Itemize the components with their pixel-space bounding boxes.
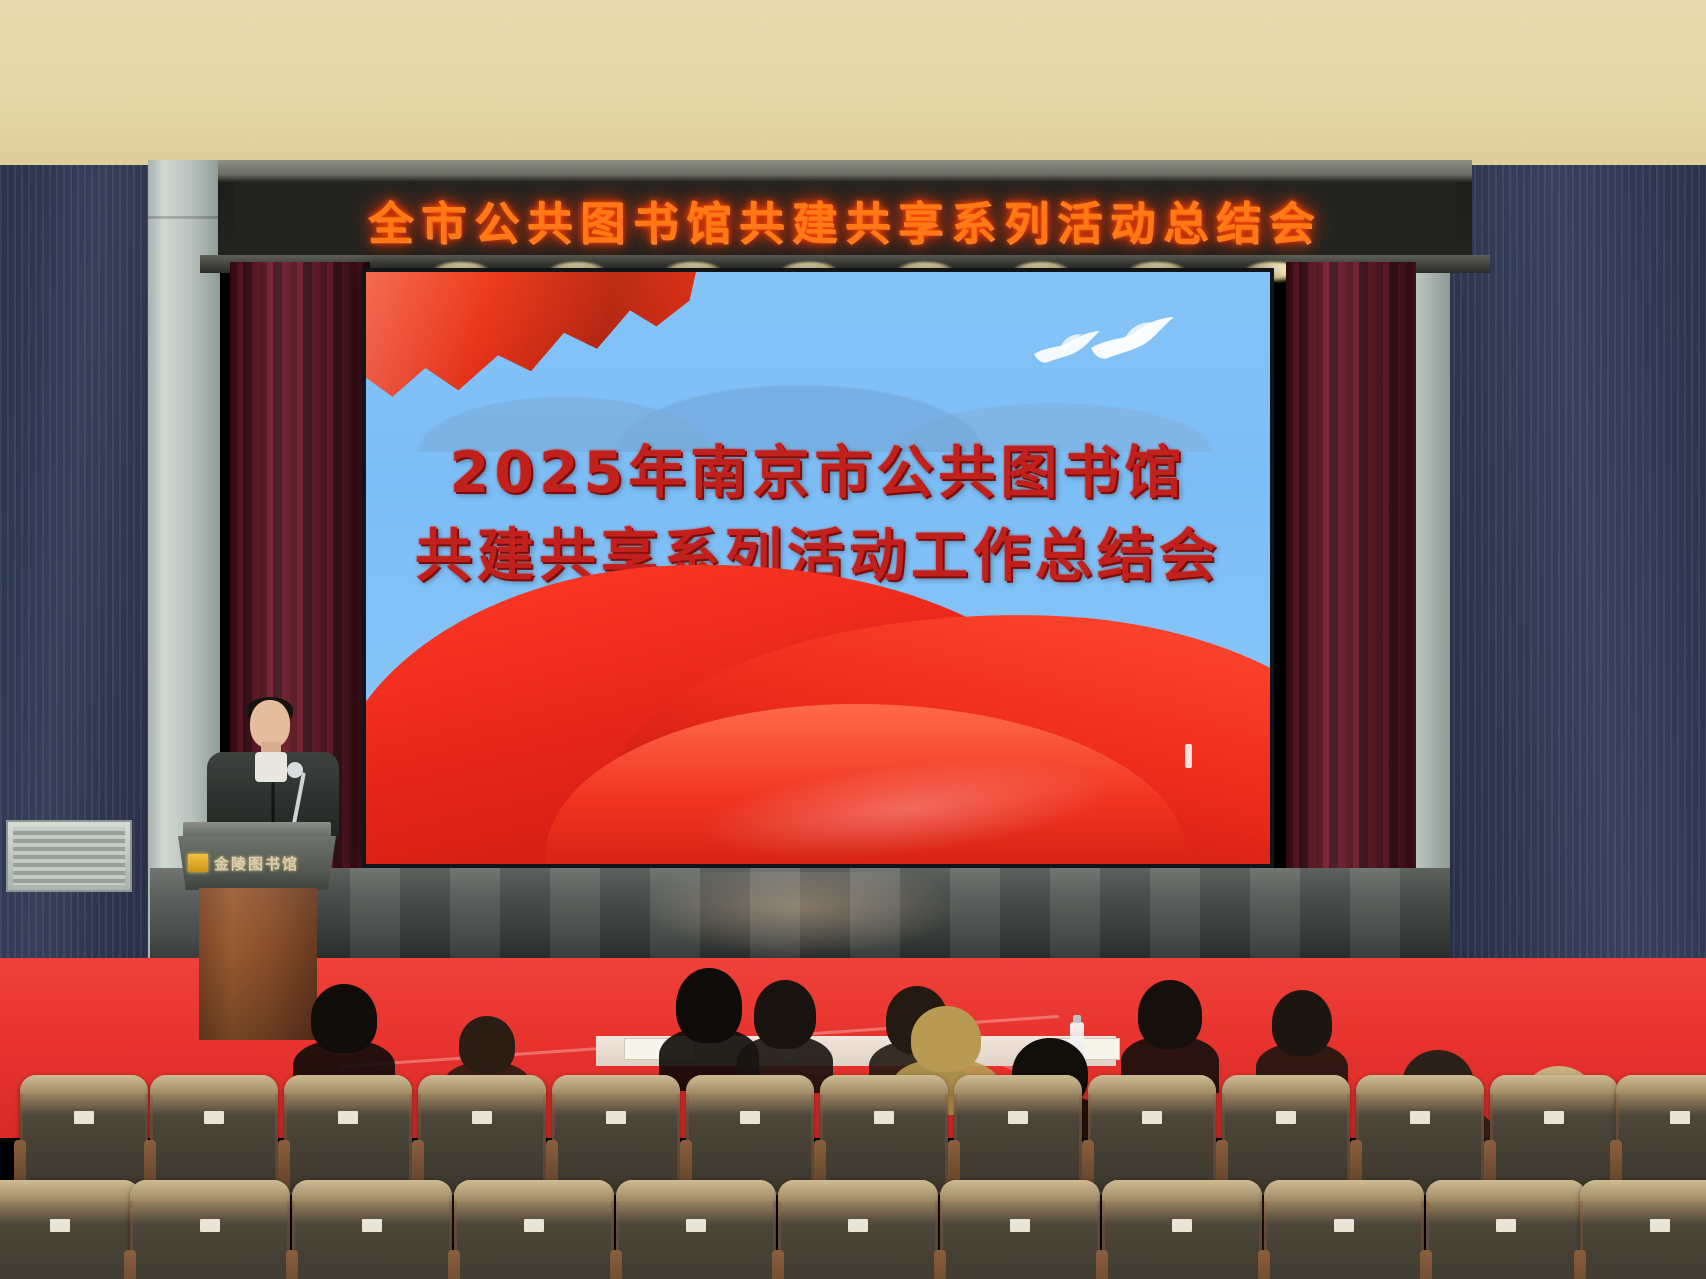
auditorium-seat[interactable]: [1102, 1180, 1262, 1279]
seat-number-plate: [472, 1111, 492, 1124]
seat-number-plate: [1008, 1111, 1028, 1124]
seat-armrest: [1420, 1250, 1432, 1279]
auditorium-seat[interactable]: [1490, 1075, 1618, 1195]
audience-person-8: [1128, 980, 1212, 1076]
auditorium-scene: 全市公共图书馆共建共享系列活动总结会: [0, 0, 1706, 1279]
auditorium-seat[interactable]: [686, 1075, 814, 1195]
auditorium-seat[interactable]: [1222, 1075, 1350, 1195]
speaker-head: [250, 700, 290, 748]
seat-number-plate: [1496, 1219, 1516, 1232]
seat-number-plate: [1544, 1111, 1564, 1124]
audience-person-4: [744, 980, 826, 1076]
seat-number-plate: [1172, 1219, 1192, 1232]
seat-number-plate: [204, 1111, 224, 1124]
auditorium-seat[interactable]: [0, 1180, 140, 1279]
library-emblem-icon: [188, 854, 208, 872]
auditorium-seat[interactable]: [552, 1075, 680, 1195]
seat-number-plate: [1276, 1111, 1296, 1124]
screen-light-artifact: [1185, 744, 1192, 768]
auditorium-seat[interactable]: [284, 1075, 412, 1195]
audience-person-9: [1262, 990, 1342, 1082]
seat-armrest: [448, 1250, 460, 1279]
auditorium-seat[interactable]: [1356, 1075, 1484, 1195]
seat-armrest: [1574, 1250, 1586, 1279]
person-head: [1272, 990, 1333, 1056]
auditorium-seat[interactable]: [954, 1075, 1082, 1195]
seat-number-plate: [686, 1219, 706, 1232]
dove-group: [1030, 318, 1230, 428]
person-head: [459, 1016, 515, 1074]
seat-armrest: [1258, 1250, 1270, 1279]
right-stage-curtain: [1286, 262, 1416, 952]
seat-number-plate: [1010, 1219, 1030, 1232]
seat-number-plate: [848, 1219, 868, 1232]
auditorium-seat[interactable]: [1616, 1075, 1706, 1195]
air-vent: [6, 820, 132, 892]
person-head: [676, 968, 741, 1043]
seat-number-plate: [606, 1111, 626, 1124]
person-head: [911, 1006, 981, 1072]
seat-number-plate: [1410, 1111, 1430, 1124]
auditorium-seat[interactable]: [1088, 1075, 1216, 1195]
microphone-head: [287, 762, 303, 778]
seat-number-plate: [1142, 1111, 1162, 1124]
audience-person-1: [300, 984, 388, 1080]
audience-area: [0, 980, 1706, 1279]
seat-number-plate: [200, 1219, 220, 1232]
stage-reflection: [640, 872, 960, 958]
led-banner-screen: 全市公共图书馆共建共享系列活动总结会: [234, 182, 1456, 257]
dove-icon: [1086, 314, 1178, 370]
seat-number-plate: [50, 1219, 70, 1232]
auditorium-seat[interactable]: [1264, 1180, 1424, 1279]
right-wall-panel: [1446, 165, 1706, 1025]
seat-armrest: [772, 1250, 784, 1279]
speaker-shirt: [255, 752, 287, 782]
seat-armrest: [934, 1250, 946, 1279]
seat-number-plate: [338, 1111, 358, 1124]
led-banner-text: 全市公共图书馆共建共享系列活动总结会: [368, 187, 1322, 252]
led-banner-frame: 全市公共图书馆共建共享系列活动总结会: [218, 160, 1472, 268]
seat-armrest: [124, 1250, 136, 1279]
ceiling: [0, 0, 1706, 182]
seat-number-plate: [1650, 1219, 1670, 1232]
seat-armrest: [286, 1250, 298, 1279]
auditorium-seat[interactable]: [292, 1180, 452, 1279]
projection-screen-bezel: 2025年南京市公共图书馆 共建共享系列活动工作总结会 金陵图书馆 2025年1…: [362, 268, 1274, 868]
auditorium-seat[interactable]: [130, 1180, 290, 1279]
seat-number-plate: [524, 1219, 544, 1232]
auditorium-seat[interactable]: [778, 1180, 938, 1279]
auditorium-seat[interactable]: [418, 1075, 546, 1195]
auditorium-seat[interactable]: [616, 1180, 776, 1279]
seat-number-plate: [740, 1111, 760, 1124]
seat-number-plate: [1670, 1111, 1690, 1124]
auditorium-seat[interactable]: [940, 1180, 1100, 1279]
person-head: [754, 980, 816, 1049]
seat-armrest: [610, 1250, 622, 1279]
seat-number-plate: [362, 1219, 382, 1232]
auditorium-seat[interactable]: [1580, 1180, 1706, 1279]
podium-plaque-text: 金陵图书馆: [214, 853, 299, 874]
auditorium-seat[interactable]: [820, 1075, 948, 1195]
seat-armrest: [1096, 1250, 1108, 1279]
person-head: [311, 984, 378, 1053]
seat-number-plate: [1334, 1219, 1354, 1232]
podium-front-panel: 金陵图书馆: [178, 836, 336, 890]
seat-number-plate: [74, 1111, 94, 1124]
auditorium-seat[interactable]: [454, 1180, 614, 1279]
auditorium-seat[interactable]: [20, 1075, 148, 1195]
seat-number-plate: [874, 1111, 894, 1124]
person-head: [1138, 980, 1202, 1049]
auditorium-seat[interactable]: [1426, 1180, 1586, 1279]
projection-screen: 2025年南京市公共图书馆 共建共享系列活动工作总结会 金陵图书馆 2025年1…: [366, 272, 1270, 864]
auditorium-seat[interactable]: [150, 1075, 278, 1195]
slide-title-line-1: 2025年南京市公共图书馆: [366, 432, 1270, 515]
